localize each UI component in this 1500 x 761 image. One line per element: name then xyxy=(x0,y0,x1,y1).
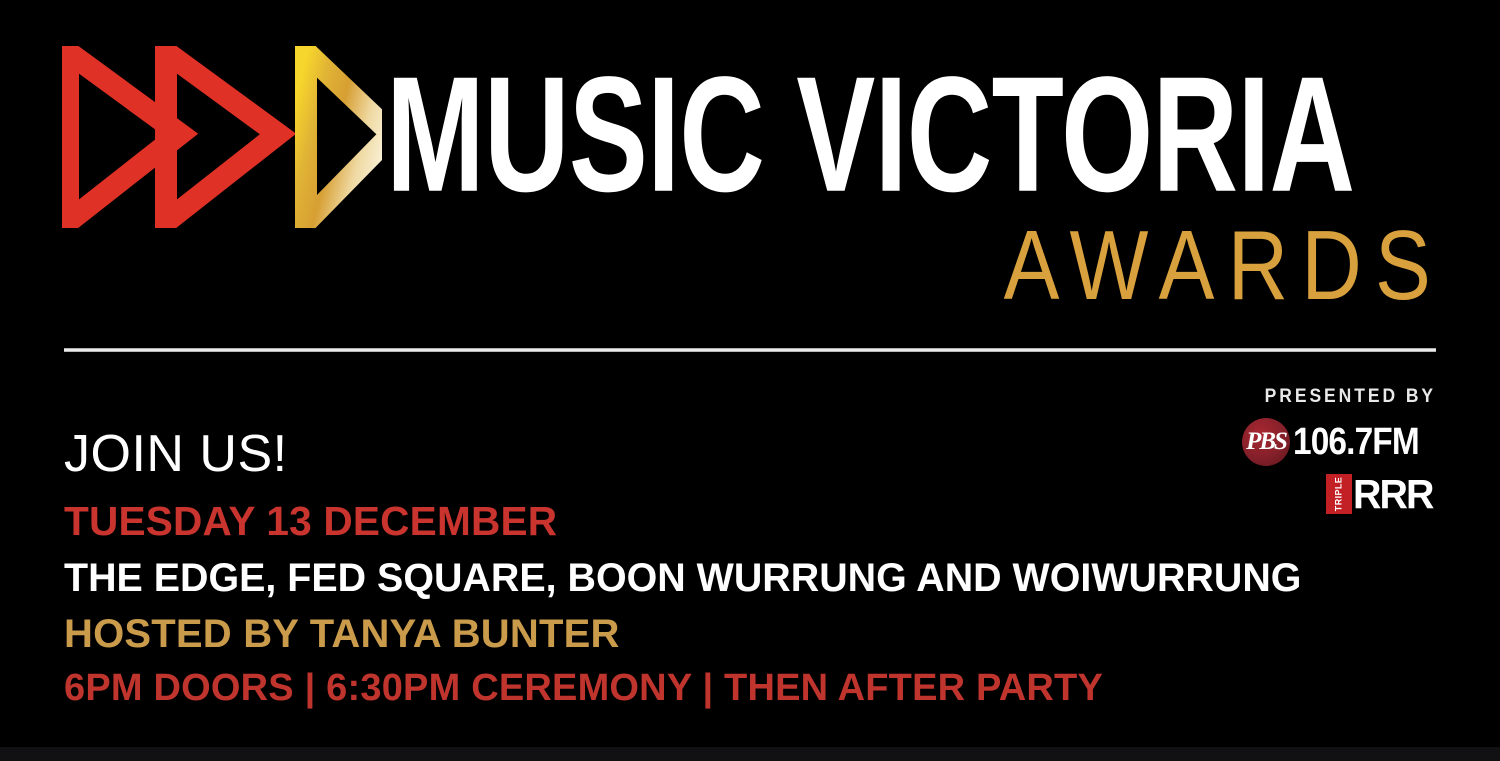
event-date: TUESDAY 13 DECEMBER xyxy=(64,501,1450,543)
wordmark: MUSIC VICTORIA AWARDS xyxy=(386,46,1446,304)
music-victoria-logo-marks xyxy=(62,46,382,228)
logo-marks-group xyxy=(62,46,382,228)
event-details-block: JOIN US! TUESDAY 13 DECEMBER THE EDGE, F… xyxy=(64,425,1464,708)
presented-by-label: PRESENTED BY xyxy=(1050,386,1436,408)
horizontal-divider xyxy=(64,348,1436,352)
poster-canvas: MUSIC VICTORIA AWARDS PRESENTED BY PBS 1… xyxy=(0,0,1500,761)
logo-title-secondary: AWARDS xyxy=(439,216,1446,315)
event-schedule: 6PM DOORS | 6:30PM CEREMONY | THEN AFTER… xyxy=(64,669,1464,708)
event-host: HOSTED BY TANYA BUNTER xyxy=(64,614,1464,655)
event-headline: JOIN US! xyxy=(64,425,1464,483)
logo-title-primary: MUSIC VICTORIA xyxy=(386,46,1213,217)
bottom-edge-strip xyxy=(0,747,1500,761)
play-triangle-icon xyxy=(306,52,382,222)
event-venue: THE EDGE, FED SQUARE, BOON WURRUNG AND W… xyxy=(64,558,1443,599)
logo-lockup: MUSIC VICTORIA AWARDS xyxy=(62,46,1446,228)
